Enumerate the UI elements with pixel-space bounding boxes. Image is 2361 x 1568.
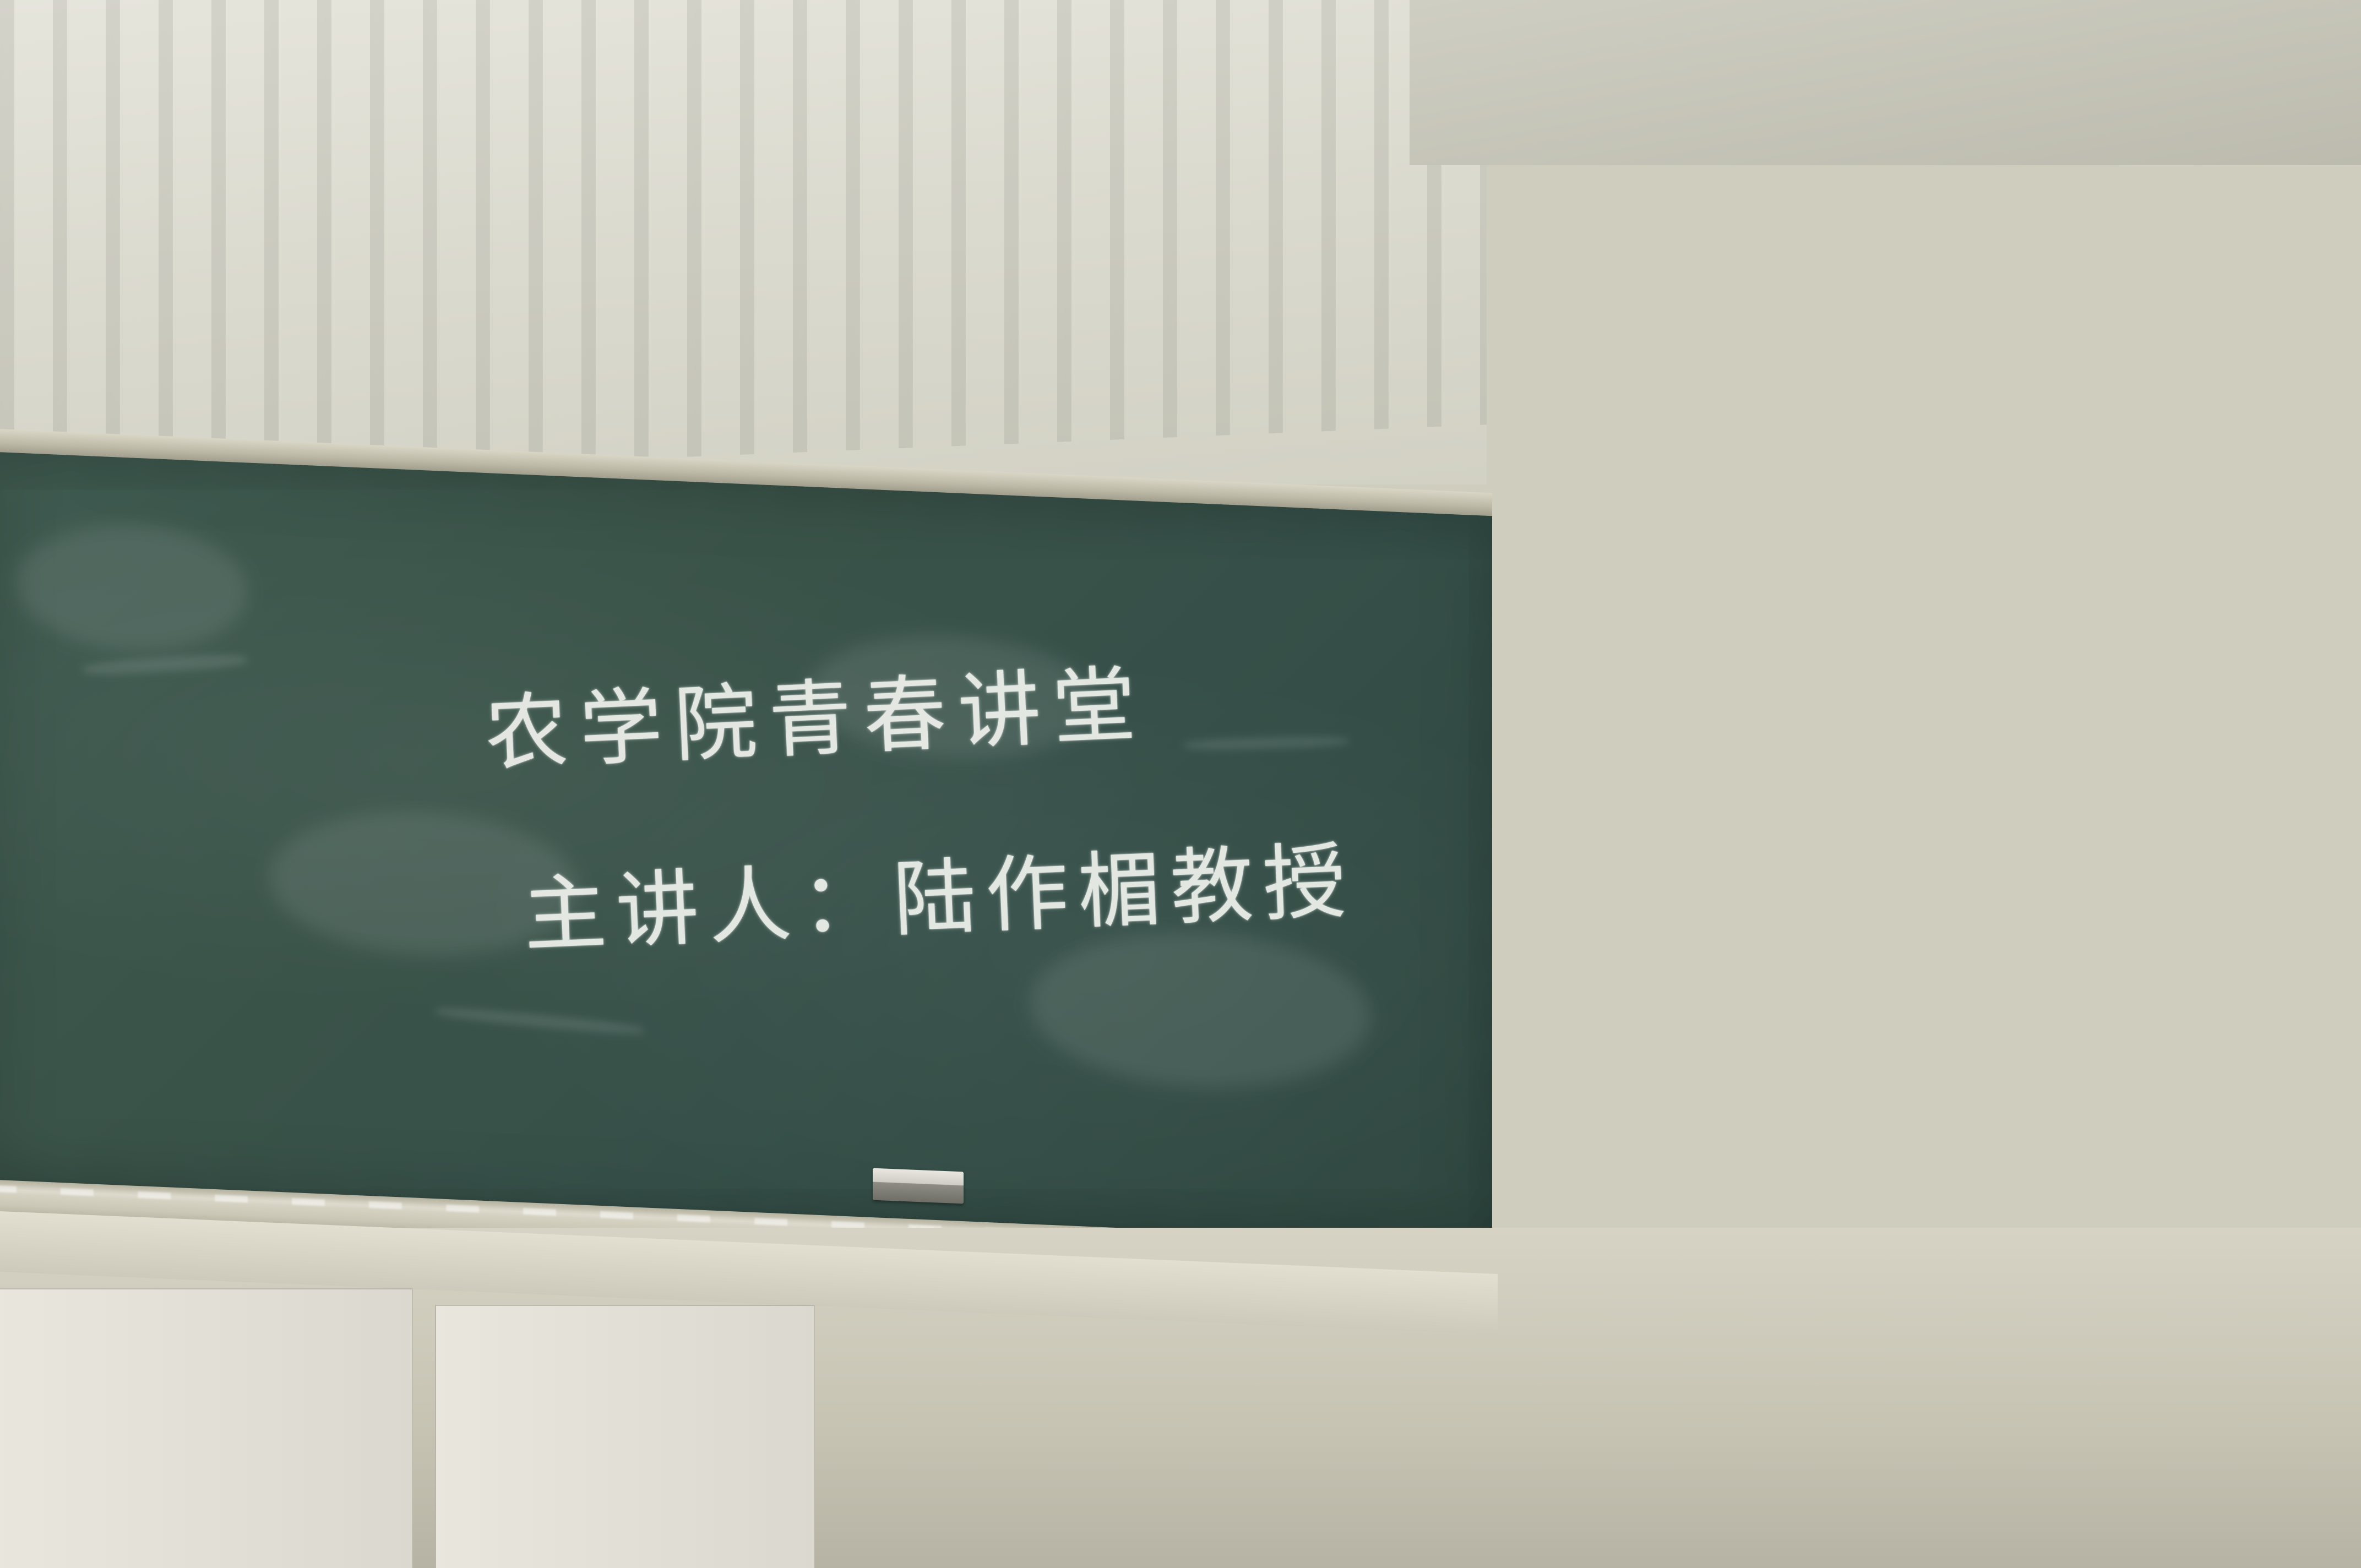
upper-wall-acoustic-panel bbox=[0, 0, 1487, 484]
cabinet-door-right[interactable] bbox=[435, 1305, 815, 1568]
lecture-hall-photo: NDT 农学院青春讲堂 主讲人：陆作楣教授 bbox=[0, 0, 2361, 1568]
upper-wall-right bbox=[1410, 0, 2361, 165]
blackboard-eraser[interactable] bbox=[873, 1168, 964, 1204]
cabinet-door-left[interactable] bbox=[0, 1288, 413, 1568]
